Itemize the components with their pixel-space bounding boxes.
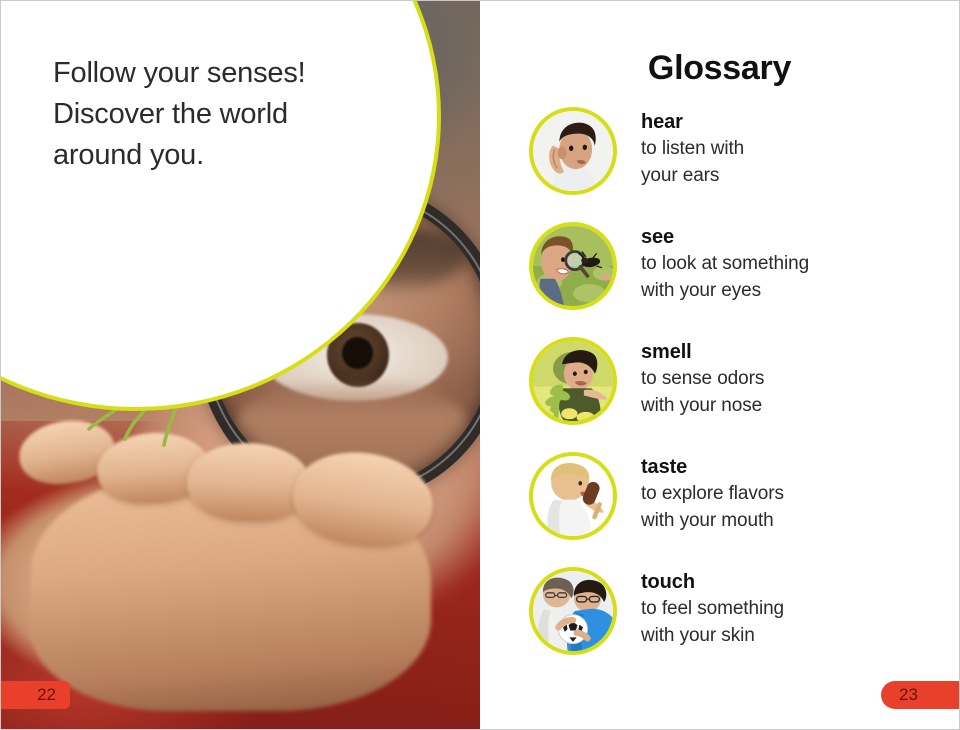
glossary-list: hear to listen with your ears <box>480 107 959 682</box>
definition-line: to look at something <box>641 250 941 277</box>
taste-thumbnail-icon <box>529 452 617 540</box>
glossary-term: touch <box>641 569 941 595</box>
definition-line: to explore flavors <box>641 480 941 507</box>
page-number-left: 22 <box>1 681 70 709</box>
intro-callout-text: Follow your senses! Discover the world a… <box>53 53 383 176</box>
glossary-term: taste <box>641 454 941 480</box>
glossary-entry-text: touch to feel something with your skin <box>641 569 941 649</box>
glossary-term: see <box>641 224 941 250</box>
page-title: Glossary <box>480 49 959 88</box>
smell-thumbnail-icon <box>529 337 617 425</box>
glossary-definition: to sense odors with your nose <box>641 365 941 419</box>
glossary-definition: to listen with your ears <box>641 135 941 189</box>
touch-thumbnail-icon <box>529 567 617 655</box>
definition-line: your ears <box>641 162 941 189</box>
glossary-entry: smell to sense odors with your nose <box>480 337 959 452</box>
glossary-entry-text: taste to explore flavors with your mouth <box>641 454 941 534</box>
page-number-right: 23 <box>881 681 960 709</box>
glossary-entry-text: smell to sense odors with your nose <box>641 339 941 419</box>
glossary-entry-text: hear to listen with your ears <box>641 109 941 189</box>
definition-line: to feel something <box>641 595 941 622</box>
left-page: Follow your senses! Discover the world a… <box>1 1 480 730</box>
definition-line: to listen with <box>641 135 941 162</box>
glossary-entry-text: see to look at something with your eyes <box>641 224 941 304</box>
glossary-entry: taste to explore flavors with your mouth <box>480 452 959 567</box>
glossary-term: hear <box>641 109 941 135</box>
definition-line: with your eyes <box>641 277 941 304</box>
glossary-definition: to feel something with your skin <box>641 595 941 649</box>
definition-line: to sense odors <box>641 365 941 392</box>
glossary-definition: to look at something with your eyes <box>641 250 941 304</box>
right-page: Glossary <box>480 1 959 730</box>
hear-thumbnail-icon <box>529 107 617 195</box>
callout-line: Follow your senses! <box>53 53 383 94</box>
callout-line: Discover the world <box>53 94 383 135</box>
glossary-entry: see to look at something with your eyes <box>480 222 959 337</box>
see-thumbnail-icon <box>529 222 617 310</box>
callout-line: around you. <box>53 135 383 176</box>
glossary-entry: touch to feel something with your skin <box>480 567 959 682</box>
definition-line: with your mouth <box>641 507 941 534</box>
glossary-term: smell <box>641 339 941 365</box>
definition-line: with your nose <box>641 392 941 419</box>
glossary-entry: hear to listen with your ears <box>480 107 959 222</box>
book-spread: Follow your senses! Discover the world a… <box>0 0 960 730</box>
glossary-definition: to explore flavors with your mouth <box>641 480 941 534</box>
definition-line: with your skin <box>641 622 941 649</box>
